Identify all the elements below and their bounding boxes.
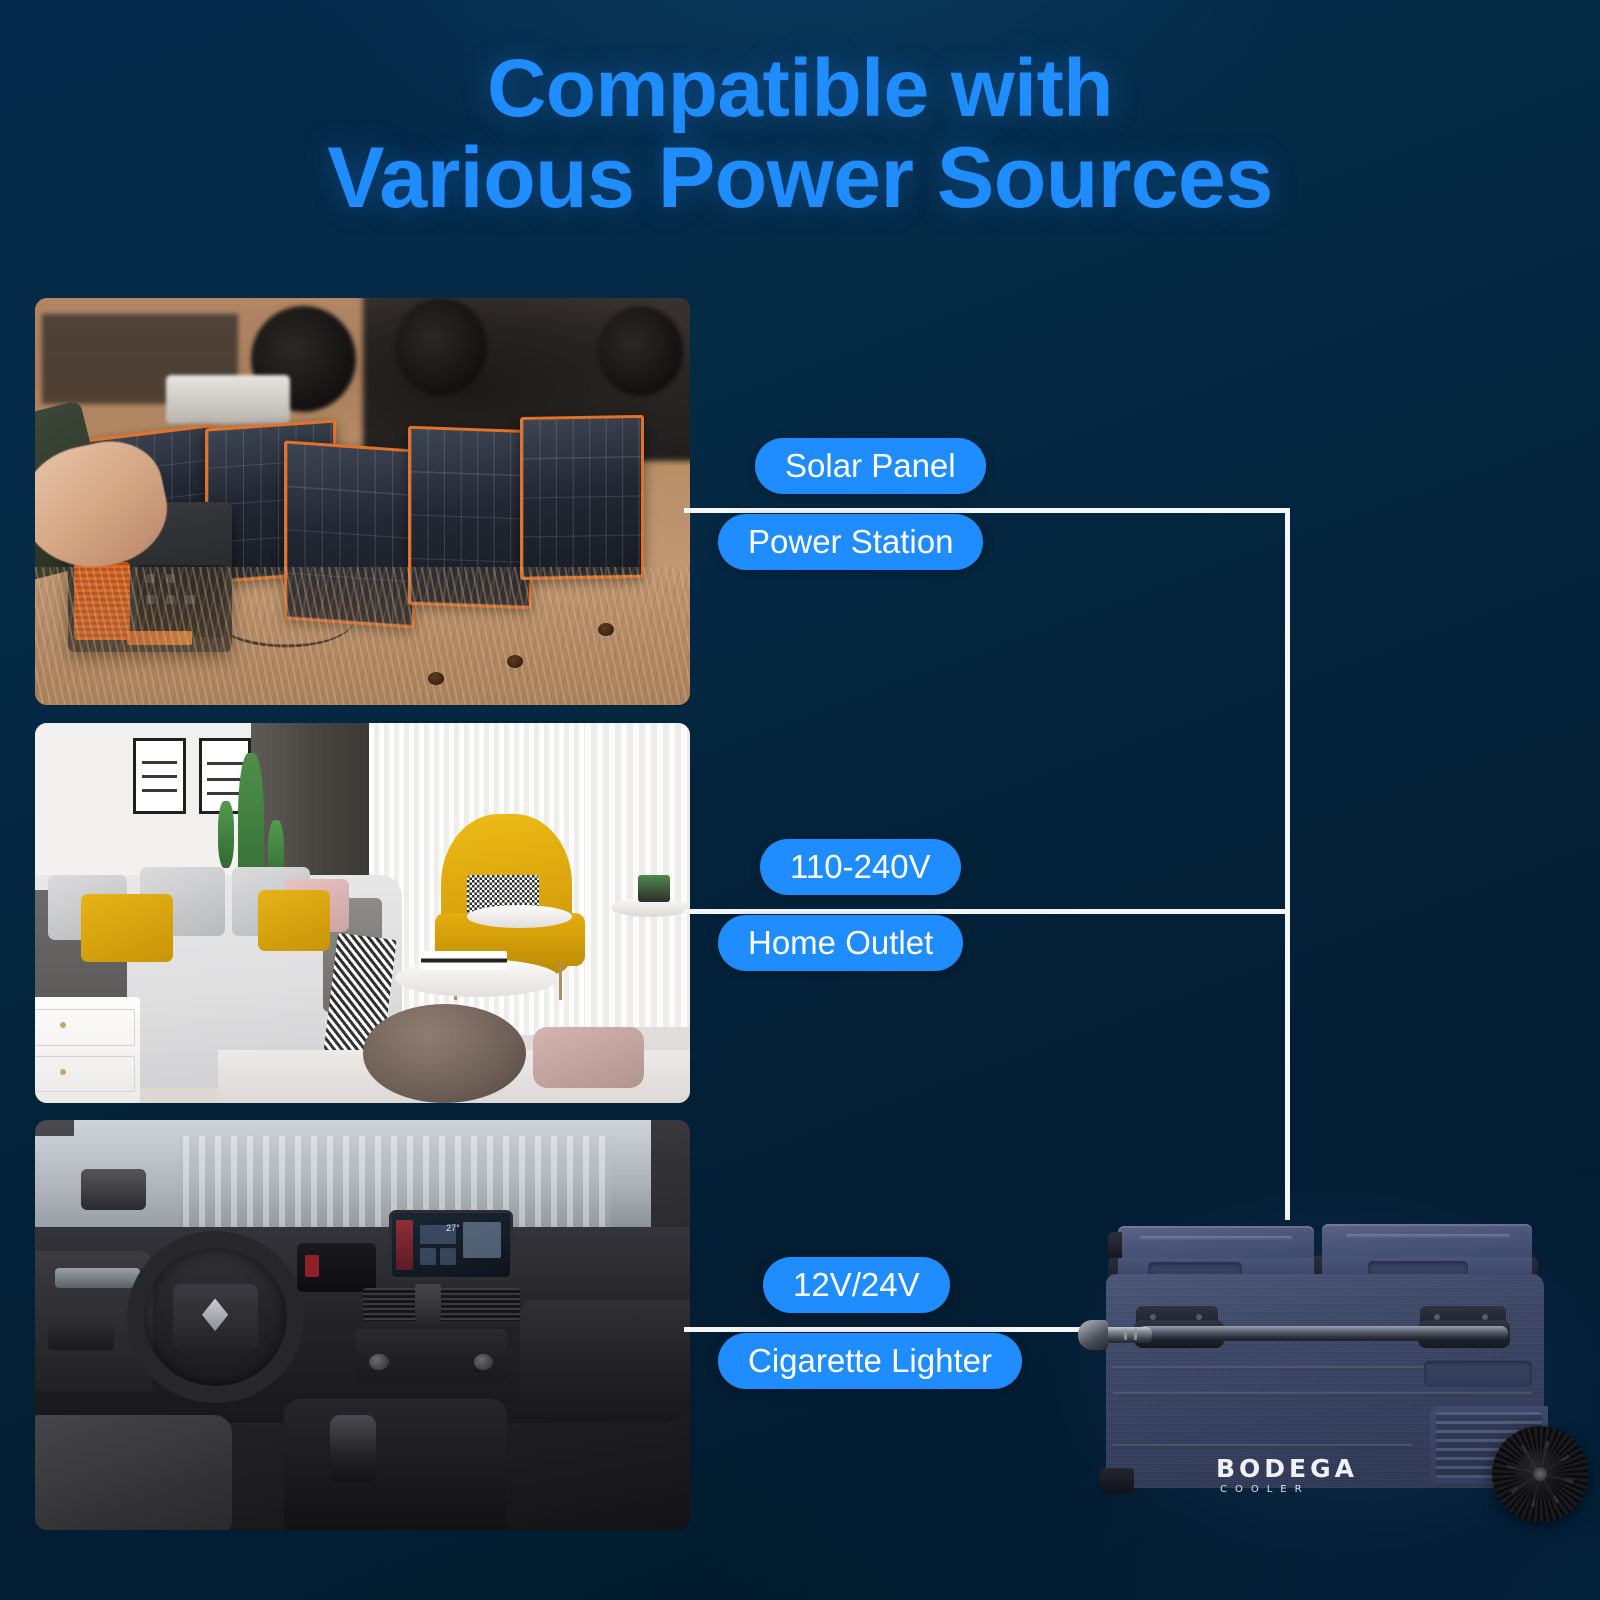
label-cigarette-lighter[interactable]: Cigarette Lighter [718, 1333, 1022, 1389]
connector-line-lighter-horizontal [684, 1327, 1104, 1332]
label-text: Solar Panel [785, 447, 956, 485]
label-text: Power Station [748, 523, 953, 561]
title-line-1: Compatible with [487, 43, 1113, 134]
label-power-station[interactable]: Power Station [718, 514, 983, 570]
connector-line-solar-horizontal [684, 508, 1290, 513]
label-voltage-dc[interactable]: 12V/24V [763, 1257, 950, 1313]
product-cooler: BODEGA COOLER [1078, 1196, 1578, 1526]
infographic-canvas: Compatible with Various Power Sources [0, 0, 1600, 1600]
cooler-control-recess [1424, 1361, 1532, 1387]
infotainment-screen: 27° [389, 1210, 513, 1280]
label-text: Home Outlet [748, 924, 933, 962]
screen-temperature: 27° [446, 1223, 460, 1233]
wall-art-left [133, 738, 185, 814]
label-home-outlet[interactable]: Home Outlet [718, 915, 963, 971]
cooler-foot [1100, 1468, 1134, 1494]
brand-logo-text: BODEGA [1216, 1454, 1358, 1483]
cooler-lid-right [1322, 1224, 1532, 1261]
gear-shifter [330, 1415, 376, 1481]
connector-line-vertical [1285, 508, 1290, 1220]
cooler-lid-left [1118, 1226, 1314, 1262]
label-text: Cigarette Lighter [748, 1342, 992, 1380]
label-solar-panel[interactable]: Solar Panel [755, 438, 986, 494]
brand-sub-text: COOLER [1220, 1484, 1310, 1495]
label-voltage-ac[interactable]: 110-240V [760, 839, 961, 895]
cooler-telescoping-handle[interactable] [1138, 1326, 1508, 1341]
photo-home-outlet [35, 723, 690, 1103]
title-line-2: Various Power Sources [0, 133, 1600, 224]
page-title: Compatible with Various Power Sources [0, 46, 1600, 224]
label-text: 12V/24V [793, 1266, 920, 1304]
connector-line-outlet-horizontal [684, 909, 1290, 914]
photo-car-interior: 27° [35, 1120, 690, 1530]
label-text: 110-240V [790, 848, 931, 886]
photo-solar-panel [35, 298, 690, 705]
